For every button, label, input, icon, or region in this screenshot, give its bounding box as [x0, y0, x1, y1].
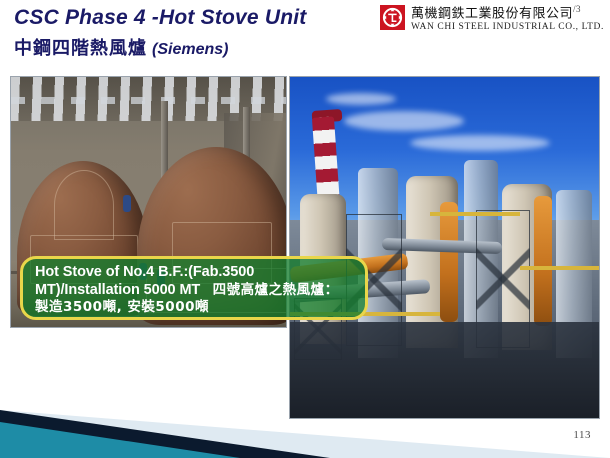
page-title: CSC Phase 4 -Hot Stove Unit	[14, 6, 306, 30]
cloud	[326, 93, 396, 105]
cloud	[344, 111, 464, 131]
company-name-en: WAN CHI STEEL INDUSTRIAL CO., LTD.	[411, 23, 604, 33]
slide-canvas: CSC Phase 4 -Hot Stove Unit 中鋼四階熱風爐 (Sie…	[0, 0, 610, 458]
wan-chi-steel-emblem-icon	[380, 5, 405, 30]
page-number: 113	[573, 429, 591, 441]
plant-scene	[290, 77, 599, 418]
callout-line-2: MT)/Installation 5000 MT 四號高爐之熱風爐：	[35, 281, 355, 300]
orange-pipe	[440, 202, 458, 322]
page-subtitle: 中鋼四階熱風爐 (Siemens)	[14, 34, 228, 60]
photo-hot-stove-plant	[289, 76, 600, 419]
callout-line-2-cjk: 四號高爐之熱風爐：	[213, 282, 339, 298]
company-logo: 萬機鋼鉄工業股份有限公司/3 WAN CHI STEEL INDUSTRIAL …	[380, 5, 604, 33]
page-subtitle-vendor: (Siemens)	[152, 41, 228, 58]
page-subtitle-cjk: 中鋼四階熱風爐	[14, 38, 147, 59]
company-name-cn: 萬機鋼鉄工業股份有限公司/3	[411, 5, 604, 21]
slide-header: CSC Phase 4 -Hot Stove Unit 中鋼四階熱風爐 (Sie…	[0, 0, 610, 68]
callout-line-3: 製造3500噸, 安裝5000噸	[35, 300, 355, 316]
platform-deck	[520, 266, 600, 270]
cloud	[410, 135, 550, 151]
dome-seam	[54, 170, 114, 240]
company-logo-text: 萬機鋼鉄工業股份有限公司/3 WAN CHI STEEL INDUSTRIAL …	[411, 5, 604, 33]
orange-pipe	[534, 196, 552, 326]
footer-decoration	[0, 396, 610, 458]
callout-hot-stove-spec: Hot Stove of No.4 B.F.:(Fab.3500 MT)/Ins…	[20, 256, 368, 320]
worker-figure	[123, 195, 131, 212]
callout-line-1: Hot Stove of No.4 B.F.:(Fab.3500	[35, 264, 355, 281]
callout-line-2-en: MT)/Installation 5000 MT	[35, 282, 200, 298]
platform-deck	[430, 212, 520, 216]
